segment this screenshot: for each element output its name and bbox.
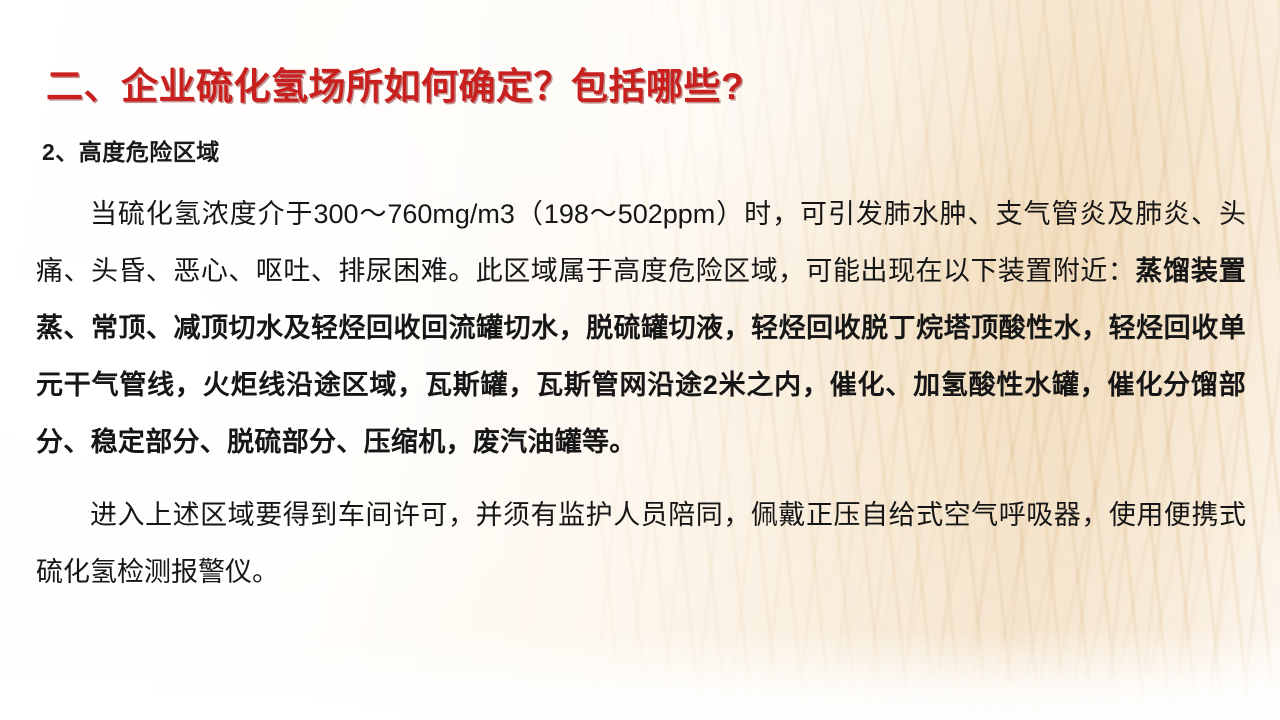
- paragraph-1-emphasis: 蒸馏装置蒸、常顶、减顶切水及轻烃回收回流罐切水，脱硫罐切液，轻烃回收脱丁烷塔顶酸…: [36, 256, 1246, 457]
- body-text-block: 当硫化氢浓度介于300～760mg/m3（198～502ppm）时，可引发肺水肿…: [36, 186, 1246, 601]
- slide-content: 二、企业硫化氢场所如何确定？包括哪些? 2、高度危险区域 当硫化氢浓度介于300…: [0, 0, 1280, 720]
- slide-canvas: 二、企业硫化氢场所如何确定？包括哪些? 2、高度危险区域 当硫化氢浓度介于300…: [0, 0, 1280, 720]
- paragraph-2: 进入上述区域要得到车间许可，并须有监护人员陪同，佩戴正压自给式空气呼吸器，使用便…: [36, 487, 1246, 601]
- slide-title: 二、企业硫化氢场所如何确定？包括哪些?: [46, 56, 744, 110]
- paragraph-1: 当硫化氢浓度介于300～760mg/m3（198～502ppm）时，可引发肺水肿…: [36, 186, 1246, 471]
- paragraph-1-lead: 当硫化氢浓度介于300～760mg/m3（198～502ppm）时，可引发肺水肿…: [36, 199, 1246, 286]
- section-heading: 2、高度危险区域: [42, 133, 220, 167]
